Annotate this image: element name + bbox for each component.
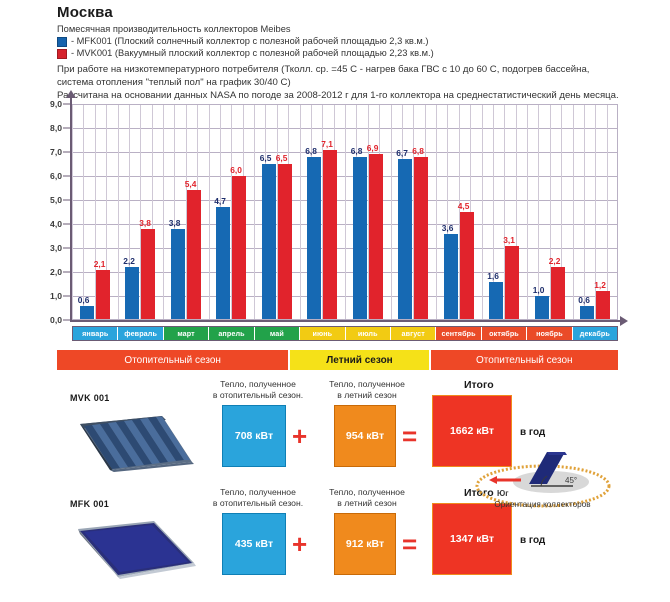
month-label-июль[interactable]: июль xyxy=(346,327,391,340)
legend-swatch-blue-icon xyxy=(57,37,67,47)
page-title: Москва xyxy=(57,4,665,22)
caption-line-1: Тепло, полученное xyxy=(198,487,318,498)
y-axis-labels: 0,01,02,03,04,05,06,07,08,09,0 xyxy=(22,104,62,320)
vacuum-tube-collector-image xyxy=(66,408,206,478)
y-axis-tick-mark xyxy=(63,176,70,177)
month-label-ноябрь[interactable]: ноябрь xyxy=(527,327,572,340)
y-axis-tick-mark xyxy=(63,128,70,129)
y-axis-tick-label: 2,0 xyxy=(50,267,62,277)
y-axis-tick-mark xyxy=(63,272,70,273)
total-value-box-mfk: 1347 кВт xyxy=(432,503,512,575)
caption-line-1: Тепло, полученное xyxy=(312,487,422,498)
y-axis-tick-label: 0,0 xyxy=(50,315,62,325)
caption-summer-season-mfk: Тепло, полученное в летний сезон xyxy=(312,487,422,509)
y-axis-tick-label: 4,0 xyxy=(50,219,62,229)
y-axis-tick-mark xyxy=(63,152,70,153)
y-axis-tick-label: 5,0 xyxy=(50,195,62,205)
per-year-label-mvk: в год xyxy=(520,427,545,438)
x-axis-line xyxy=(70,320,620,322)
collector-name-mfk: MFK 001 xyxy=(70,499,109,509)
value-box-heating-mfk: 435 кВт xyxy=(222,513,286,575)
orientation-angle-label: 45° xyxy=(565,476,577,485)
month-label-сентябрь[interactable]: сентябрь xyxy=(436,327,481,340)
y-axis-tick-mark xyxy=(63,104,70,105)
y-axis-tick-mark xyxy=(63,224,70,225)
month-label-октябрь[interactable]: октябрь xyxy=(482,327,527,340)
plus-operator-mvk: + xyxy=(292,423,307,449)
month-label-май[interactable]: май xyxy=(255,327,300,340)
legend-swatch-red-icon xyxy=(57,49,67,59)
month-axis-strip: январьфевральмартапрельмайиюньиюльавгуст… xyxy=(72,326,618,341)
flat-plate-collector-image xyxy=(66,515,206,585)
month-label-январь[interactable]: январь xyxy=(73,327,118,340)
caption-line-2: в летний сезон xyxy=(312,498,422,509)
y-axis-tick-label: 3,0 xyxy=(50,243,62,253)
value-box-heating-mvk: 708 кВт xyxy=(222,405,286,467)
y-axis-tick-label: 9,0 xyxy=(50,99,62,109)
month-label-август[interactable]: август xyxy=(391,327,436,340)
season-segment-1: Летний сезон xyxy=(290,350,430,370)
caption-line-2: в отопительный сезон. xyxy=(198,498,318,509)
value-box-summer-mvk: 954 кВт xyxy=(334,405,396,467)
season-segment-0: Отопительный сезон xyxy=(57,350,290,370)
month-label-июнь[interactable]: июнь xyxy=(300,327,345,340)
y-axis-tick-label: 7,0 xyxy=(50,147,62,157)
orientation-direction-label: Юг xyxy=(497,489,509,498)
season-segment-2: Отопительный сезон xyxy=(431,350,618,370)
collector-name-mvk: MVK 001 xyxy=(70,393,110,403)
y-axis-tick-mark xyxy=(63,296,70,297)
caption-heating-season-mvk: Тепло, полученное в отопительный сезон. xyxy=(198,379,318,401)
note-line-2: система отопления "теплый пол" на график… xyxy=(57,76,665,89)
total-label-mvk: Итого xyxy=(464,379,494,391)
y-axis-tick-mark xyxy=(63,248,70,249)
y-axis-tick-mark xyxy=(63,200,70,201)
orientation-caption: Ориентация коллекторов xyxy=(455,500,630,509)
y-axis-tick-label: 6,0 xyxy=(50,171,62,181)
caption-line-2: в отопительный сезон. xyxy=(198,390,318,401)
legend-item-mvk: - MVK001 (Вакуумный плоский коллектор с … xyxy=(57,48,665,59)
value-box-summer-mfk: 912 кВт xyxy=(334,513,396,575)
header: Москва Помесячная производительность кол… xyxy=(57,4,665,102)
caption-heating-season-mfk: Тепло, полученное в отопительный сезон. xyxy=(198,487,318,509)
caption-line-2: в летний сезон xyxy=(312,390,422,401)
note-block: При работе на низкотемпературного потреб… xyxy=(57,63,665,102)
season-strip: Отопительный сезонЛетний сезонОтопительн… xyxy=(57,350,618,370)
month-label-февраль[interactable]: февраль xyxy=(118,327,163,340)
legend-label-mfk: - MFK001 (Плоский солнечный коллектор с … xyxy=(71,36,428,47)
caption-line-1: Тепло, полученное xyxy=(312,379,422,390)
legend-label-mvk: - MVK001 (Вакуумный плоский коллектор с … xyxy=(71,48,434,59)
bar-chart: 0,01,02,03,04,05,06,07,08,09,0 0,62,12,2… xyxy=(0,104,670,336)
equals-operator-mfk: = xyxy=(402,531,417,557)
infographic-page: Москва Помесячная производительность кол… xyxy=(0,0,670,602)
y-axis-tick-label: 1,0 xyxy=(50,291,62,301)
y-axis-tick-mark xyxy=(63,320,70,321)
note-line-3: Рассчитана на основании данных NASA по п… xyxy=(57,89,665,102)
month-label-декабрь[interactable]: декабрь xyxy=(573,327,617,340)
y-axis-tick-label: 8,0 xyxy=(50,123,62,133)
legend-item-mfk: - MFK001 (Плоский солнечный коллектор с … xyxy=(57,36,665,47)
month-label-апрель[interactable]: апрель xyxy=(209,327,254,340)
plus-operator-mfk: + xyxy=(292,531,307,557)
plot-border xyxy=(72,104,618,320)
note-line-1: При работе на низкотемпературного потреб… xyxy=(57,63,665,76)
month-label-март[interactable]: март xyxy=(164,327,209,340)
caption-summer-season-mvk: Тепло, полученное в летний сезон xyxy=(312,379,422,401)
equals-operator-mvk: = xyxy=(402,423,417,449)
page-subtitle: Помесячная производительность коллекторо… xyxy=(57,23,665,35)
per-year-label-mfk: в год xyxy=(520,535,545,546)
caption-line-1: Тепло, полученное xyxy=(198,379,318,390)
